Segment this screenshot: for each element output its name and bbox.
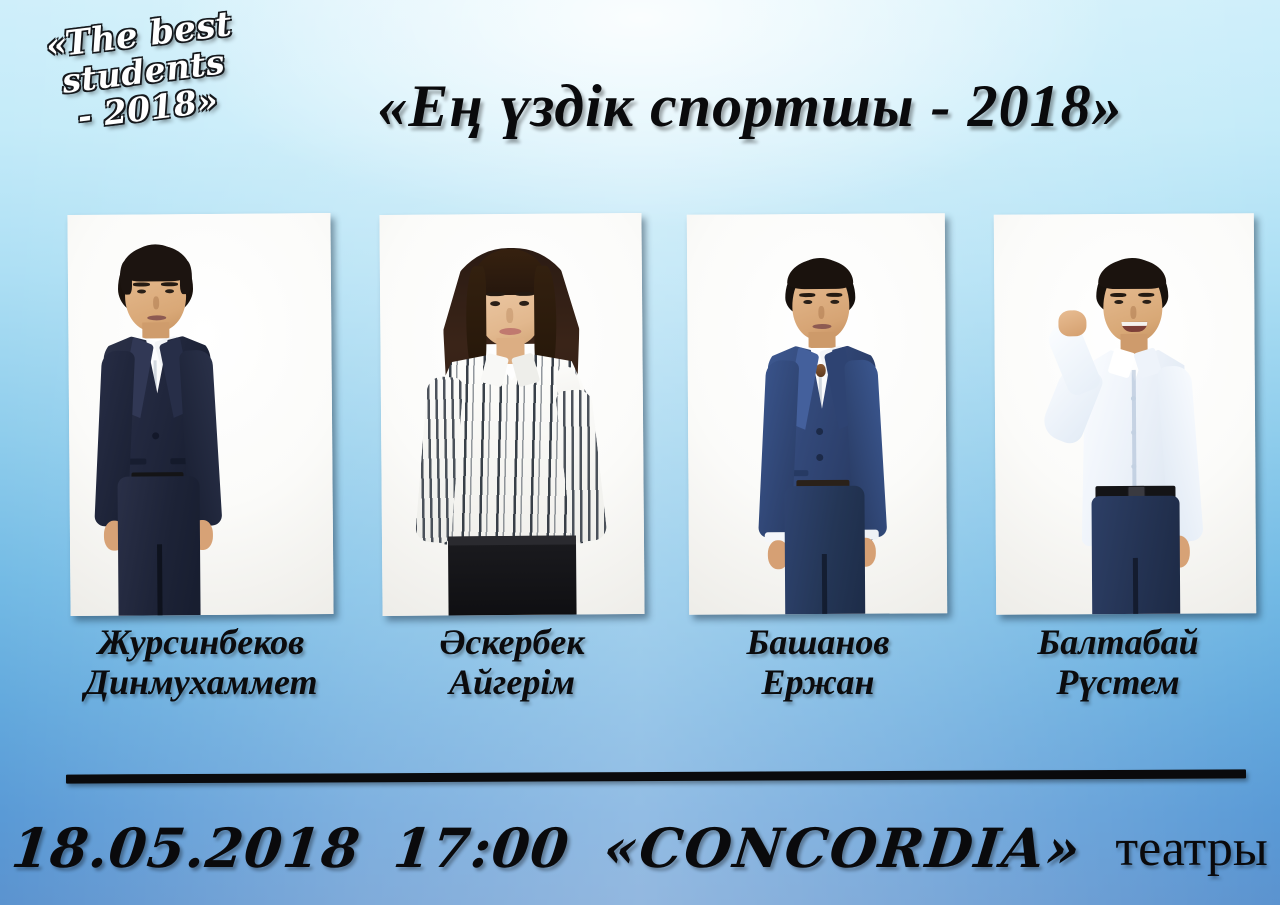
given-name: Рүстем xyxy=(968,662,1268,702)
honoree-name-4: Балтабай Рүстем xyxy=(968,622,1268,703)
jacket-button xyxy=(152,432,159,439)
honoree-card-1 xyxy=(69,214,332,615)
honoree-photo-row xyxy=(0,214,1280,624)
eyebrow-right xyxy=(826,293,842,297)
eye-left xyxy=(1114,300,1123,304)
surname: Башанов xyxy=(668,622,968,662)
horizontal-divider xyxy=(66,769,1246,783)
trouser-gap xyxy=(1133,558,1138,615)
given-name: Ержан xyxy=(668,662,968,702)
portrait-figure-4 xyxy=(994,213,1256,615)
hair-side-left xyxy=(120,261,132,295)
surname: Әскербек xyxy=(362,622,662,662)
venue-name: «CONCORDIA» xyxy=(600,816,1084,880)
eyebrow-right xyxy=(1138,293,1154,297)
nose xyxy=(153,296,159,309)
surname: Балтабай xyxy=(968,622,1268,662)
portrait-figure-1 xyxy=(67,213,333,616)
honoree-photo-4 xyxy=(994,213,1256,615)
surname: Журсинбеков xyxy=(42,622,360,662)
the-best-students-logo: «The best students - 2018» xyxy=(20,2,267,142)
given-name: Айгерім xyxy=(362,662,662,702)
honoree-photo-1 xyxy=(67,213,333,616)
trouser-gap xyxy=(157,544,163,616)
black-jeans xyxy=(448,536,577,617)
eyebrow-left xyxy=(1110,293,1126,297)
hair-fringe xyxy=(787,259,853,289)
eye-right xyxy=(165,289,174,293)
poster: «The best students - 2018» «Ең үздік спо… xyxy=(0,0,1280,905)
honoree-card-2 xyxy=(381,214,643,615)
honoree-photo-3 xyxy=(687,213,947,615)
venue-word: театры xyxy=(1115,819,1267,878)
portrait-figure-3 xyxy=(687,213,947,615)
jacket-button-top xyxy=(816,428,823,435)
trouser-gap xyxy=(822,554,827,615)
hair-side-right xyxy=(180,260,192,294)
event-time: 17:00 xyxy=(391,816,573,880)
eye-right xyxy=(830,300,839,304)
jeans-waistband xyxy=(448,536,576,546)
given-name: Динмухаммет xyxy=(42,662,360,702)
honoree-name-1: Журсинбеков Динмухаммет xyxy=(42,622,360,703)
event-date: 18.05.2018 xyxy=(9,816,364,880)
honoree-photo-2 xyxy=(379,213,644,616)
poster-title: «Ең үздік спортшы - 2018» xyxy=(300,76,1200,136)
eyebrow-left xyxy=(133,282,150,286)
shirt-button-1 xyxy=(1131,396,1136,401)
portrait-figure-2 xyxy=(379,213,644,616)
nose xyxy=(1130,306,1136,319)
jacket-button-bottom xyxy=(816,454,823,461)
honoree-name-2: Әскербек Айгерім xyxy=(362,622,662,703)
honoree-card-3 xyxy=(688,214,946,614)
shirt-button-2 xyxy=(1131,430,1136,435)
fist-icon xyxy=(1058,310,1086,336)
honoree-names: Журсинбеков Динмухаммет Әскербек Айгерім… xyxy=(0,622,1280,732)
nose xyxy=(818,306,824,319)
honoree-card-4 xyxy=(995,214,1255,614)
eyebrow-left xyxy=(799,293,815,297)
teeth xyxy=(1121,322,1147,326)
event-footer: 18.05.2018 17:00 «CONCORDIA» театры xyxy=(0,798,1280,898)
eye-left xyxy=(137,289,146,293)
eyebrow-left xyxy=(486,292,505,296)
honoree-name-3: Башанов Ержан xyxy=(668,622,968,703)
nose xyxy=(506,308,513,323)
eyebrow-right xyxy=(515,292,534,296)
shirt-button-3 xyxy=(1131,464,1136,469)
eye-right xyxy=(1142,300,1151,304)
eyebrow-right xyxy=(161,282,178,286)
hair-fringe xyxy=(1098,259,1166,289)
eye-left xyxy=(803,300,812,304)
